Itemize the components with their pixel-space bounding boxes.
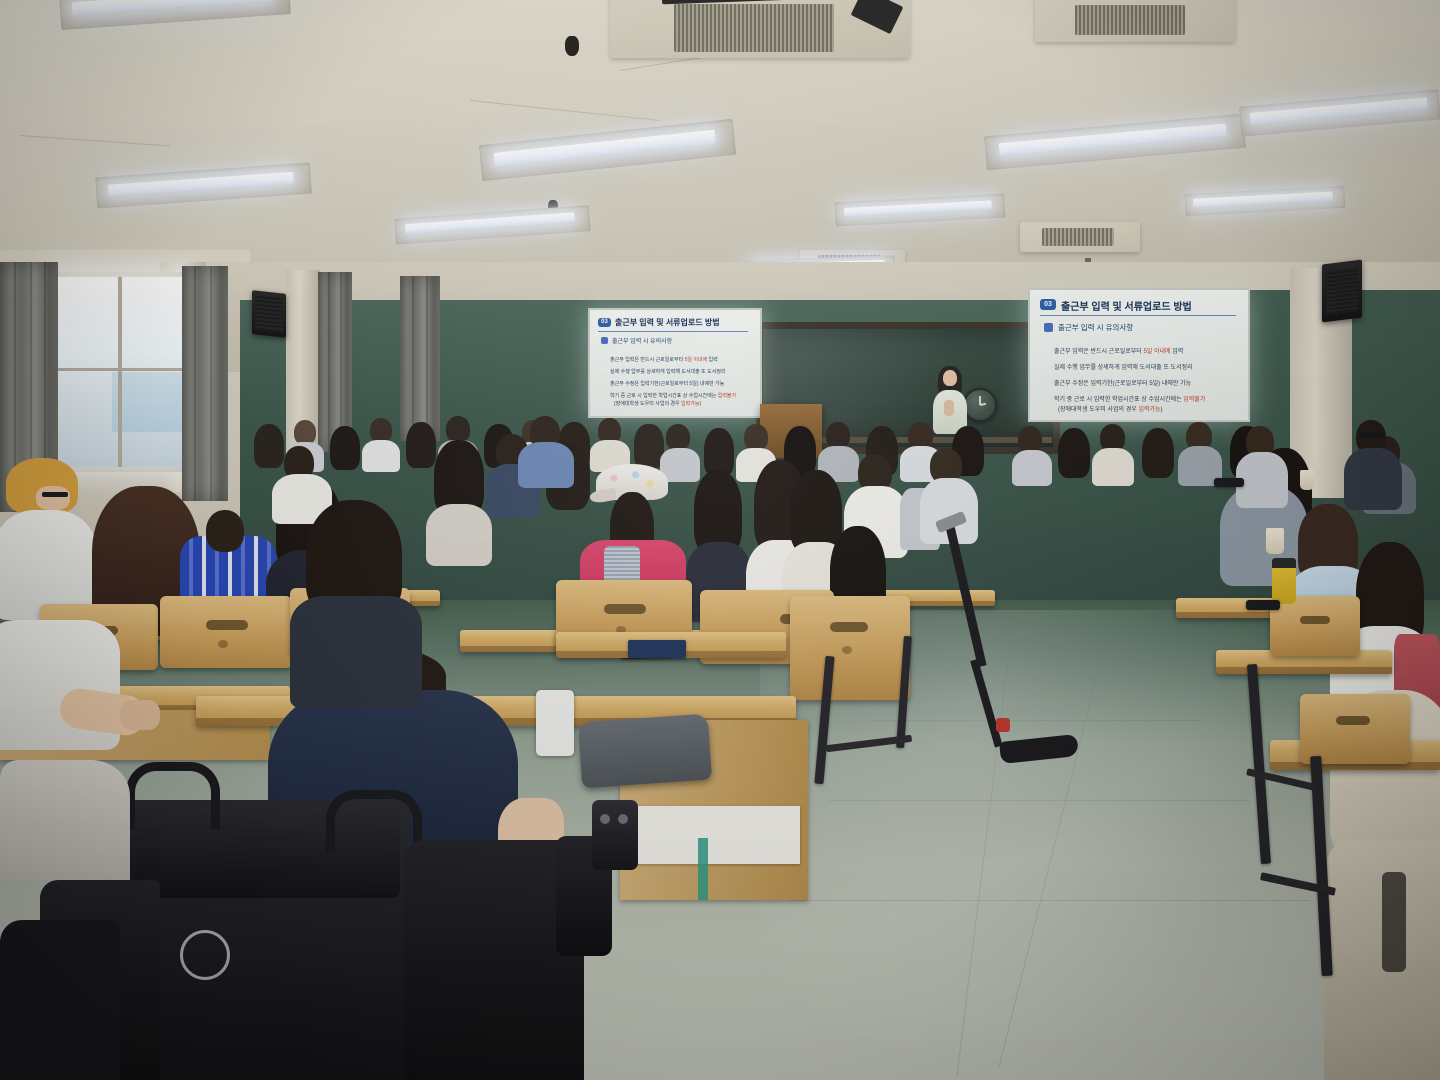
chair-back xyxy=(1270,596,1360,656)
slide-bullet: 출근부 입력은 반드시 근로일로부터 5일 이내에 입력 xyxy=(1054,346,1183,355)
chair-back xyxy=(790,596,910,700)
wheelchair-push-handle xyxy=(326,790,422,853)
slide-subtitle-icon xyxy=(601,337,608,344)
eyeglasses xyxy=(1360,432,1384,438)
slide-subtitle: 출근부 입력 시 유의사항 xyxy=(612,336,672,345)
eyeglasses xyxy=(42,492,68,497)
slide-bullet: 실제 수행 업무를 상세하게 입력해 도서대출 또 도서정리 xyxy=(1054,362,1193,371)
green-tape xyxy=(698,838,708,900)
coffee-cup xyxy=(1266,528,1284,554)
slide-subtitle-icon xyxy=(1044,323,1053,332)
paper-sheet xyxy=(636,806,800,864)
slide-bullet: 출근부 입력은 반드시 근로일로부터 5일 이내에 입력 xyxy=(610,356,718,363)
folded-kick-scooter xyxy=(930,520,1090,770)
slide-badge: 03 xyxy=(598,318,611,327)
slide-bullet: 출근부 수정은 입력기한(근로일로부터 5일) 내에만 가능 xyxy=(1054,378,1191,387)
hand xyxy=(120,700,160,730)
slide-bullet: 학기 중 근로 시 입력한 학업시간표 상 수업시간에는 입력불가 xyxy=(1054,394,1205,403)
ceiling-ac-unit xyxy=(1035,0,1235,42)
slide-bullet: 출근부 수정은 입력기한(근로일로부터 5일) 내에만 가능 xyxy=(610,380,724,387)
student-foreground-center xyxy=(286,500,426,700)
wall-speaker xyxy=(1322,260,1362,323)
yellow-tumbler xyxy=(1272,558,1296,604)
smartphone xyxy=(1246,600,1280,610)
slide-title: 출근부 입력 및 서류업로드 방법 xyxy=(615,317,720,328)
slide-bullet: 실제 수행 업무를 상세하게 입력해 도서대출 또 도서정리 xyxy=(610,368,726,375)
lecture-hall-photo: 03 출근부 입력 및 서류업로드 방법 출근부 입력 시 유의사항 출근부 입… xyxy=(0,0,1440,1080)
coffee-cup xyxy=(1300,470,1314,490)
ceiling-ac-unit xyxy=(1020,222,1140,252)
wheelchair-wheel xyxy=(0,920,120,1080)
wheelchair-joystick-control xyxy=(592,800,638,870)
slide-bullet: 학기 중 근로 시 입력한 학업시간표 상 수업시간에는 입력불가 xyxy=(610,392,736,399)
scooter-marker xyxy=(996,718,1010,732)
student-foreground-left-lap xyxy=(0,760,130,880)
smoke-detector xyxy=(565,36,579,56)
slide-subtitle: 출근부 입력 시 유의사항 xyxy=(1058,322,1133,333)
wall-speaker xyxy=(252,290,286,338)
cap-brim xyxy=(589,488,617,504)
ceiling-ac-unit xyxy=(610,0,910,58)
scooter-deck xyxy=(999,734,1079,764)
chair-back xyxy=(1300,694,1410,764)
slide-badge: 03 xyxy=(1040,299,1056,310)
projection-screen-right: 03 출근부 입력 및 서류업로드 방법 출근부 입력 시 유의사항 출근부 입… xyxy=(1028,288,1250,422)
wheelchair-d-ring xyxy=(180,930,230,980)
bag-strap xyxy=(1382,872,1406,972)
slide-title: 출근부 입력 및 서류업로드 방법 xyxy=(1061,298,1192,313)
audience-right-rear xyxy=(1238,412,1438,532)
smartphone xyxy=(1214,478,1244,487)
smartphone xyxy=(536,690,574,756)
